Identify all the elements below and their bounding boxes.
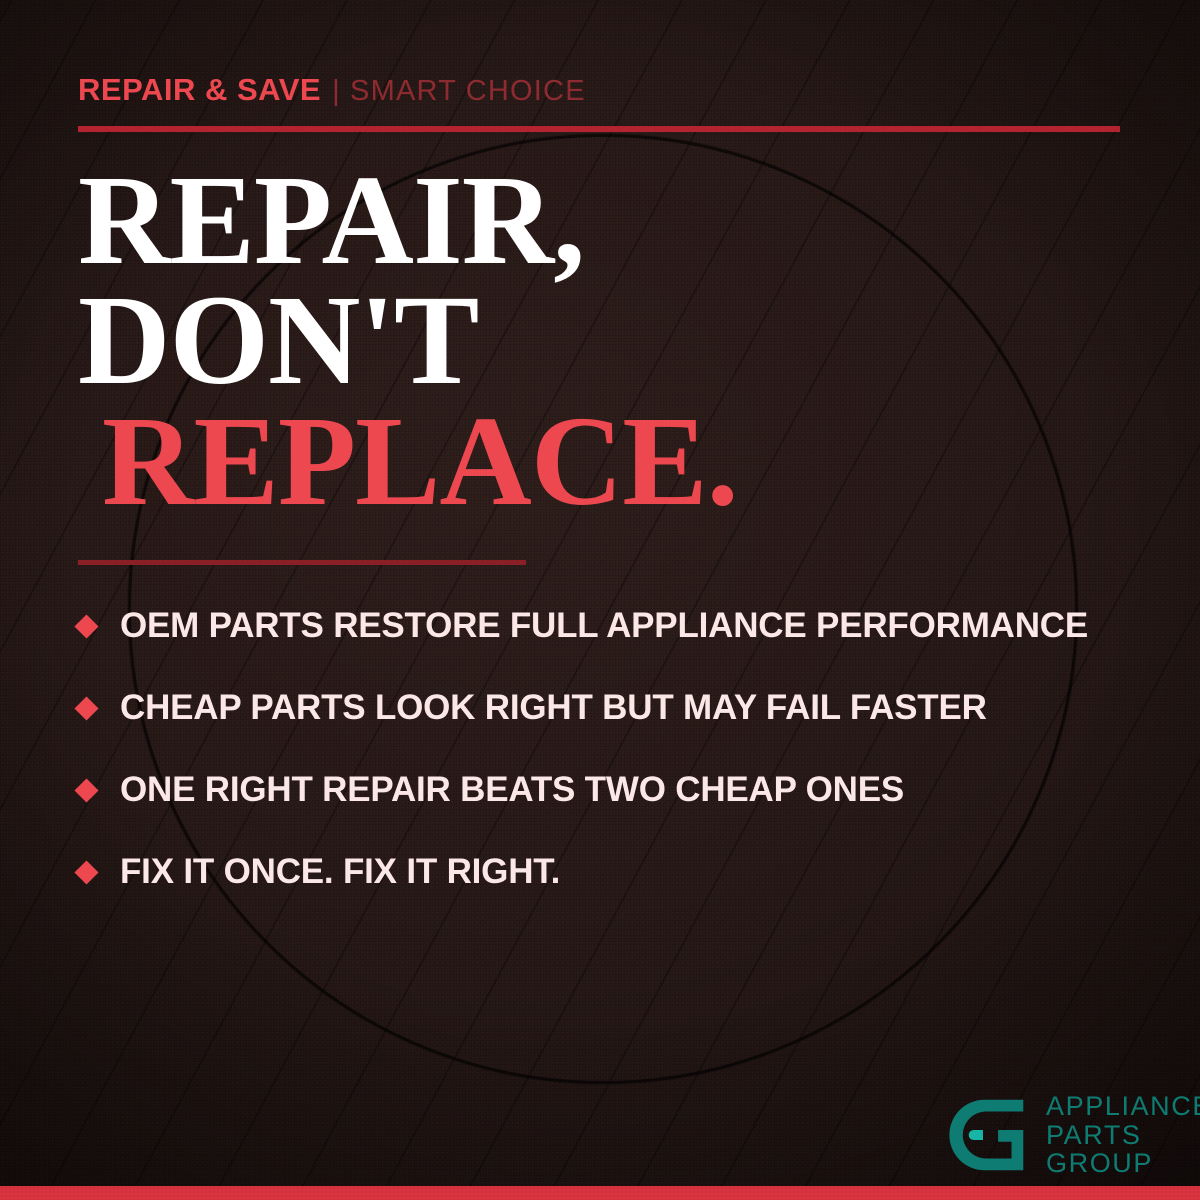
- diamond-icon: [74, 614, 98, 638]
- bullet-list: OEM PARTS RESTORE FULL APPLIANCE PERFORM…: [78, 585, 1158, 913]
- list-item-label: OEM PARTS RESTORE FULL APPLIANCE PERFORM…: [120, 606, 1088, 646]
- eyebrow-subtitle: | SMART CHOICE: [332, 75, 586, 107]
- headline-divider-rule: [78, 560, 526, 565]
- header-divider-rule: [78, 126, 1120, 132]
- list-item: CHEAP PARTS LOOK RIGHT BUT MAY FAIL FAST…: [78, 667, 1158, 749]
- brand-logo-line-1: APPLIANCE: [1046, 1092, 1200, 1121]
- poster-canvas: REPAIR & SAVE| SMART CHOICE REPAIR, DON'…: [0, 0, 1200, 1200]
- list-item-label: FIX IT ONCE. FIX IT RIGHT.: [120, 852, 560, 892]
- g-monogram-icon: [946, 1093, 1030, 1177]
- headline-line-1: REPAIR,: [78, 160, 738, 280]
- brand-logo-wordmark: APPLIANCE PARTS GROUP: [1046, 1092, 1200, 1178]
- bottom-accent-bar: [0, 1186, 1200, 1200]
- brand-logo-line-2: PARTS: [1046, 1121, 1200, 1150]
- diamond-icon: [74, 696, 98, 720]
- bottom-bar-texture: [0, 1186, 1200, 1200]
- headline-line-3: REPLACE.: [78, 401, 738, 521]
- list-item: FIX IT ONCE. FIX IT RIGHT.: [78, 831, 1158, 913]
- eyebrow-kicker: REPAIR & SAVE: [78, 72, 321, 107]
- headline-line-2: DON'T: [78, 280, 738, 400]
- brand-logo-line-3: GROUP: [1046, 1149, 1200, 1178]
- page-title: REPAIR, DON'T REPLACE.: [78, 160, 738, 521]
- diamond-icon: [74, 860, 98, 884]
- eyebrow-header: REPAIR & SAVE| SMART CHOICE: [78, 74, 586, 106]
- diamond-icon: [74, 778, 98, 802]
- brand-logo: APPLIANCE PARTS GROUP: [946, 1092, 1200, 1178]
- list-item: ONE RIGHT REPAIR BEATS TWO CHEAP ONES: [78, 749, 1158, 831]
- list-item: OEM PARTS RESTORE FULL APPLIANCE PERFORM…: [78, 585, 1158, 667]
- poster-content: REPAIR & SAVE| SMART CHOICE REPAIR, DON'…: [0, 0, 1200, 1200]
- list-item-label: ONE RIGHT REPAIR BEATS TWO CHEAP ONES: [120, 770, 904, 810]
- list-item-label: CHEAP PARTS LOOK RIGHT BUT MAY FAIL FAST…: [120, 688, 987, 728]
